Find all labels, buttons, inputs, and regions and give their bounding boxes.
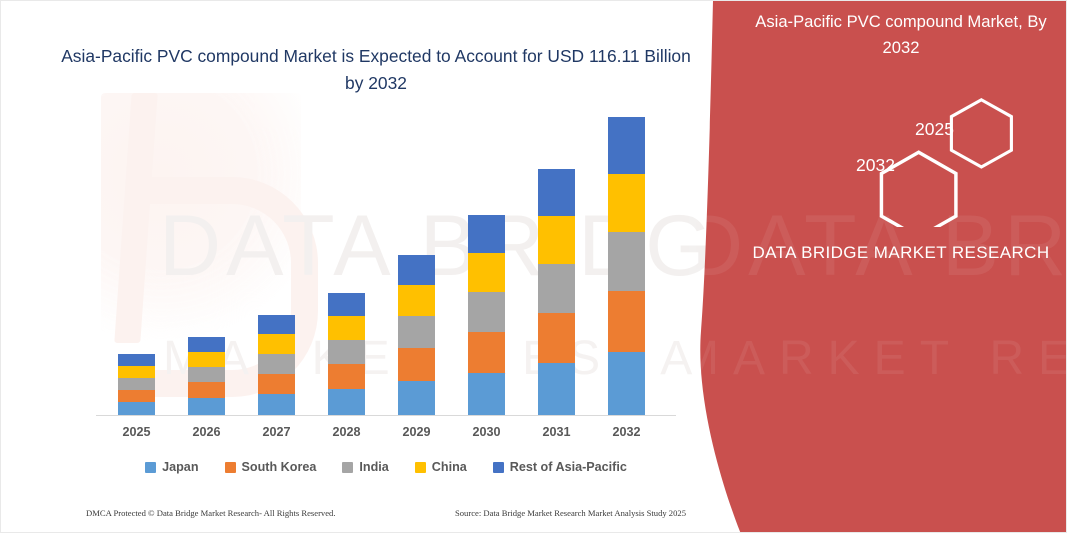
- bar-segment-india: [258, 354, 295, 374]
- legend-item-china[interactable]: China: [415, 460, 467, 474]
- x-label-2032: 2032: [597, 425, 657, 439]
- bar-segment-rest-of-asia-pacific: [258, 315, 295, 334]
- right-watermark-line2: MARKET RESEARCH: [689, 331, 1067, 386]
- bar-2026: [188, 337, 225, 415]
- bar-2032: [608, 117, 645, 415]
- chart-title: Asia-Pacific PVC compound Market is Expe…: [61, 43, 691, 97]
- legend-label: South Korea: [242, 460, 317, 474]
- bar-segment-south-korea: [538, 313, 575, 363]
- bar-segment-japan: [398, 381, 435, 415]
- bar-segment-japan: [608, 352, 645, 415]
- bar-segment-japan: [468, 373, 505, 415]
- x-axis-line: [96, 415, 676, 416]
- bar-segment-rest-of-asia-pacific: [538, 169, 575, 216]
- bar-segment-south-korea: [118, 390, 155, 402]
- bar-segment-india: [538, 264, 575, 313]
- legend-swatch-icon: [415, 462, 426, 473]
- bar-2030: [468, 215, 505, 415]
- legend-label: China: [432, 460, 467, 474]
- bar-segment-china: [258, 334, 295, 354]
- legend-swatch-icon: [225, 462, 236, 473]
- bar-segment-china: [398, 285, 435, 316]
- bar-segment-rest-of-asia-pacific: [188, 337, 225, 352]
- legend-swatch-icon: [342, 462, 353, 473]
- chart-legend: JapanSouth KoreaIndiaChinaRest of Asia-P…: [96, 456, 676, 478]
- bar-segment-japan: [328, 389, 365, 415]
- footer: DMCA Protected © Data Bridge Market Rese…: [86, 508, 686, 518]
- legend-label: India: [359, 460, 388, 474]
- bar-segment-japan: [538, 363, 575, 415]
- hexagon-group: 2032 2025: [829, 97, 1029, 227]
- bar-segment-japan: [188, 398, 225, 415]
- legend-swatch-icon: [145, 462, 156, 473]
- x-label-2027: 2027: [247, 425, 307, 439]
- x-label-2026: 2026: [177, 425, 237, 439]
- bar-segment-china: [468, 253, 505, 292]
- right-panel: DATA BRIDGE MARKET RESEARCH Asia-Pacific…: [689, 1, 1067, 533]
- x-label-2028: 2028: [317, 425, 377, 439]
- legend-item-india[interactable]: India: [342, 460, 388, 474]
- x-label-2025: 2025: [107, 425, 167, 439]
- bar-2028: [328, 293, 365, 415]
- bar-segment-india: [188, 367, 225, 382]
- hex-2025-icon: [951, 100, 1011, 167]
- bar-segment-rest-of-asia-pacific: [608, 117, 645, 174]
- hex-2032-label: 2032: [856, 155, 895, 176]
- bar-segment-south-korea: [398, 348, 435, 381]
- x-label-2029: 2029: [387, 425, 447, 439]
- bar-segment-china: [188, 352, 225, 367]
- bar-2025: [118, 354, 155, 415]
- bar-segment-south-korea: [188, 382, 225, 398]
- x-axis-labels: 20252026202720282029203020312032: [96, 425, 676, 445]
- bar-2029: [398, 255, 435, 415]
- bar-segment-india: [118, 378, 155, 390]
- x-label-2031: 2031: [527, 425, 587, 439]
- legend-label: Rest of Asia-Pacific: [510, 460, 627, 474]
- bar-segment-china: [118, 366, 155, 378]
- bar-segment-china: [608, 174, 645, 232]
- legend-item-japan[interactable]: Japan: [145, 460, 198, 474]
- bar-segment-rest-of-asia-pacific: [468, 215, 505, 253]
- bar-segment-india: [398, 316, 435, 348]
- bar-segment-china: [538, 216, 575, 264]
- bar-segment-india: [608, 232, 645, 291]
- footer-source: Source: Data Bridge Market Research Mark…: [455, 508, 686, 518]
- brand-name: DATA BRIDGE MARKET RESEARCH: [741, 239, 1061, 266]
- bar-2031: [538, 169, 575, 415]
- footer-copyright: DMCA Protected © Data Bridge Market Rese…: [86, 508, 336, 518]
- chart-plot-area: [96, 121, 676, 415]
- bar-segment-south-korea: [258, 374, 295, 394]
- right-panel-title: Asia-Pacific PVC compound Market, By 203…: [741, 9, 1061, 61]
- bar-segment-rest-of-asia-pacific: [328, 293, 365, 316]
- bar-segment-south-korea: [608, 291, 645, 352]
- legend-item-south-korea[interactable]: South Korea: [225, 460, 317, 474]
- bar-segment-south-korea: [328, 364, 365, 389]
- x-label-2030: 2030: [457, 425, 517, 439]
- bar-segment-rest-of-asia-pacific: [118, 354, 155, 366]
- legend-item-rest-of-asia-pacific[interactable]: Rest of Asia-Pacific: [493, 460, 627, 474]
- bar-segment-japan: [258, 394, 295, 415]
- infographic-canvas: DATA BRIDGE MARKET RESEARCH Asia-Pacific…: [0, 0, 1067, 533]
- bar-segment-india: [328, 340, 365, 364]
- legend-label: Japan: [162, 460, 198, 474]
- bar-segment-japan: [118, 402, 155, 415]
- bar-segment-rest-of-asia-pacific: [398, 255, 435, 285]
- hex-2025-label: 2025: [915, 119, 954, 140]
- bar-segment-india: [468, 292, 505, 332]
- legend-swatch-icon: [493, 462, 504, 473]
- bar-segment-south-korea: [468, 332, 505, 373]
- bar-2027: [258, 315, 295, 415]
- bar-segment-china: [328, 316, 365, 340]
